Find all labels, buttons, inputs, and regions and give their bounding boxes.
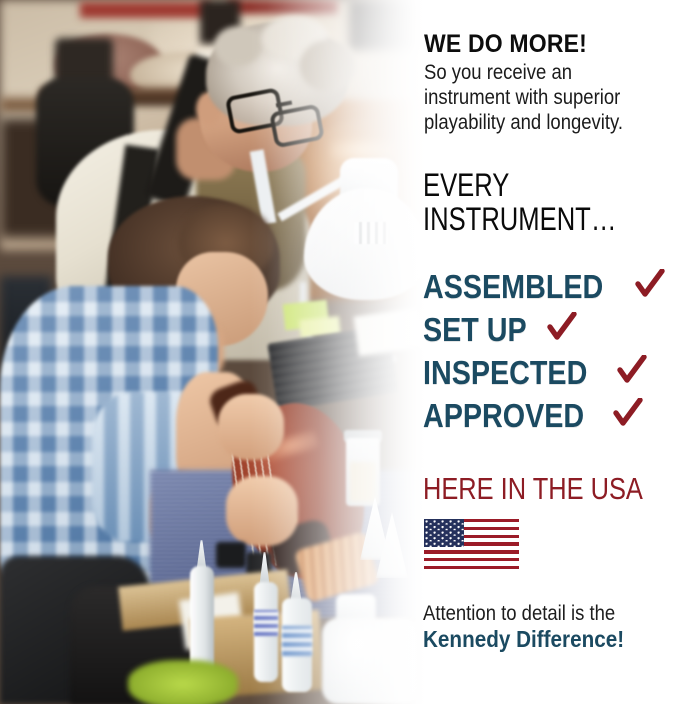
checklist-item-set-up: SET UP (423, 308, 679, 351)
lead-line-3: playability and longevity. (424, 110, 623, 135)
checklist-label-inspected: INSPECTED (423, 356, 587, 389)
lead-line-2: instrument with superior (424, 85, 623, 110)
flag-stars (424, 519, 464, 547)
marketing-text-panel: WE DO MORE! So you receive an instrument… (418, 0, 679, 704)
workshop-photo (0, 0, 430, 704)
usa-line-text: HERE IN THE USA (423, 473, 643, 505)
every-line-2: INSTRUMENT… (423, 202, 616, 236)
checklist-label-approved: APPROVED (423, 399, 584, 432)
every-instrument-heading: EVERY INSTRUMENT… (423, 168, 665, 236)
headline: WE DO MORE! (424, 30, 601, 59)
checklist: ASSEMBLED SET UP INSPECTED (423, 265, 679, 437)
checkmark-icon (617, 355, 647, 391)
every-line-1: EVERY (423, 168, 616, 202)
flag-stripe (424, 566, 519, 569)
flag-stripe (424, 558, 519, 561)
lead-paragraph: So you receive an instrument with superi… (424, 60, 655, 135)
advertisement-image: WE DO MORE! So you receive an instrument… (0, 0, 679, 704)
photo-white-gradient-overlay (250, 0, 430, 704)
checkmark-icon (613, 398, 643, 434)
checkmark-icon (547, 312, 577, 348)
headline-text: WE DO MORE! (424, 30, 587, 59)
us-flag-icon (424, 519, 519, 571)
footer-line-1: Attention to detail is the (423, 601, 620, 626)
checkmark-icon (635, 269, 665, 305)
checklist-label-set-up: SET UP (423, 313, 527, 346)
checklist-item-inspected: INSPECTED (423, 351, 679, 394)
checklist-label-assembled: ASSEMBLED (423, 270, 603, 303)
checklist-item-assembled: ASSEMBLED (423, 265, 679, 308)
usa-line: HERE IN THE USA (423, 473, 679, 505)
lead-line-1: So you receive an (424, 60, 623, 85)
flag-canton (424, 519, 464, 547)
footer-tagline: Attention to detail is the Kennedy Diffe… (423, 601, 652, 653)
checklist-item-approved: APPROVED (423, 394, 679, 437)
flag-stripe (424, 550, 519, 553)
footer-line-2: Kennedy Difference! (423, 626, 624, 653)
